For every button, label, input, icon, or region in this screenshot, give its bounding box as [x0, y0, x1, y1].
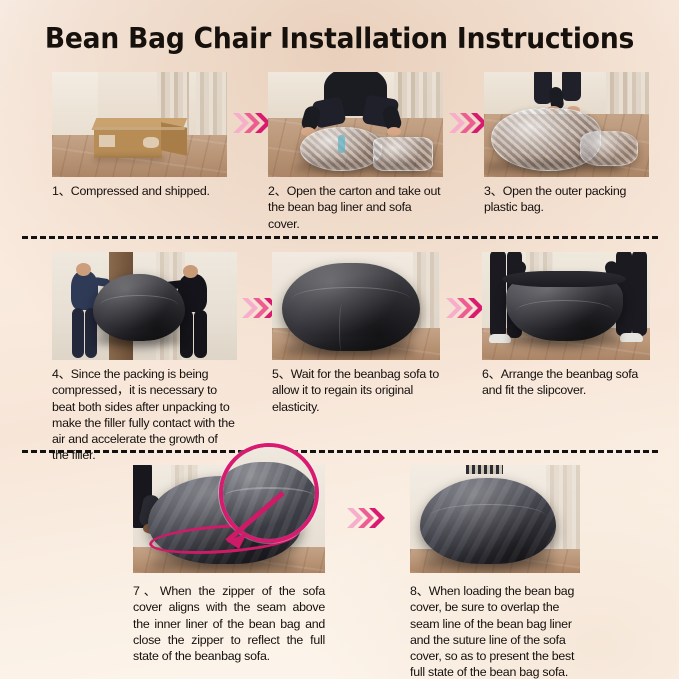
step-7-photo [133, 465, 325, 573]
step-2-photo [268, 72, 443, 177]
step-3: 3、Open the outer packing plastic bag. [484, 72, 649, 216]
step-6-caption: 6、Arrange the beanbag sofa and fit the s… [482, 366, 650, 399]
step-1-caption: 1、Compressed and shipped. [52, 183, 227, 199]
step-7: 7、When the zipper of the sofa cover alig… [133, 465, 325, 664]
step-6: 6、Arrange the beanbag sofa and fit the s… [482, 252, 650, 399]
instruction-poster: Bean Bag Chair Installation Instructions [0, 0, 679, 679]
step-4-caption: 4、Since the packing is being compressed，… [52, 366, 237, 464]
step-1: 1、Compressed and shipped. [52, 72, 227, 199]
step-2-caption: 2、Open the carton and take out the bean … [268, 183, 443, 232]
step-5-photo [272, 252, 440, 360]
step-4-photo [52, 252, 237, 360]
callout-arrow-icon [203, 487, 289, 557]
step-8-caption: 8、When loading the bean bag cover, be su… [410, 583, 580, 679]
step-1-photo [52, 72, 227, 177]
triple-chevron-right-icon [231, 110, 273, 136]
triple-chevron-right-icon [447, 110, 489, 136]
triple-chevron-right-icon [444, 295, 486, 321]
step-8: 8、When loading the bean bag cover, be su… [410, 465, 580, 679]
step-3-caption: 3、Open the outer packing plastic bag. [484, 183, 649, 216]
section-divider-1 [22, 236, 658, 239]
triple-chevron-right-icon [345, 505, 387, 531]
step-7-caption: 7、When the zipper of the sofa cover alig… [133, 583, 325, 664]
step-8-photo [410, 465, 580, 573]
step-4: 4、Since the packing is being compressed，… [52, 252, 237, 464]
step-2: 2、Open the carton and take out the bean … [268, 72, 443, 232]
step-3-photo [484, 72, 649, 177]
step-5-caption: 5、Wait for the beanbag sofa to allow it … [272, 366, 440, 415]
page-title: Bean Bag Chair Installation Instructions [24, 22, 655, 55]
step-6-photo [482, 252, 650, 360]
step-5: 5、Wait for the beanbag sofa to allow it … [272, 252, 440, 415]
